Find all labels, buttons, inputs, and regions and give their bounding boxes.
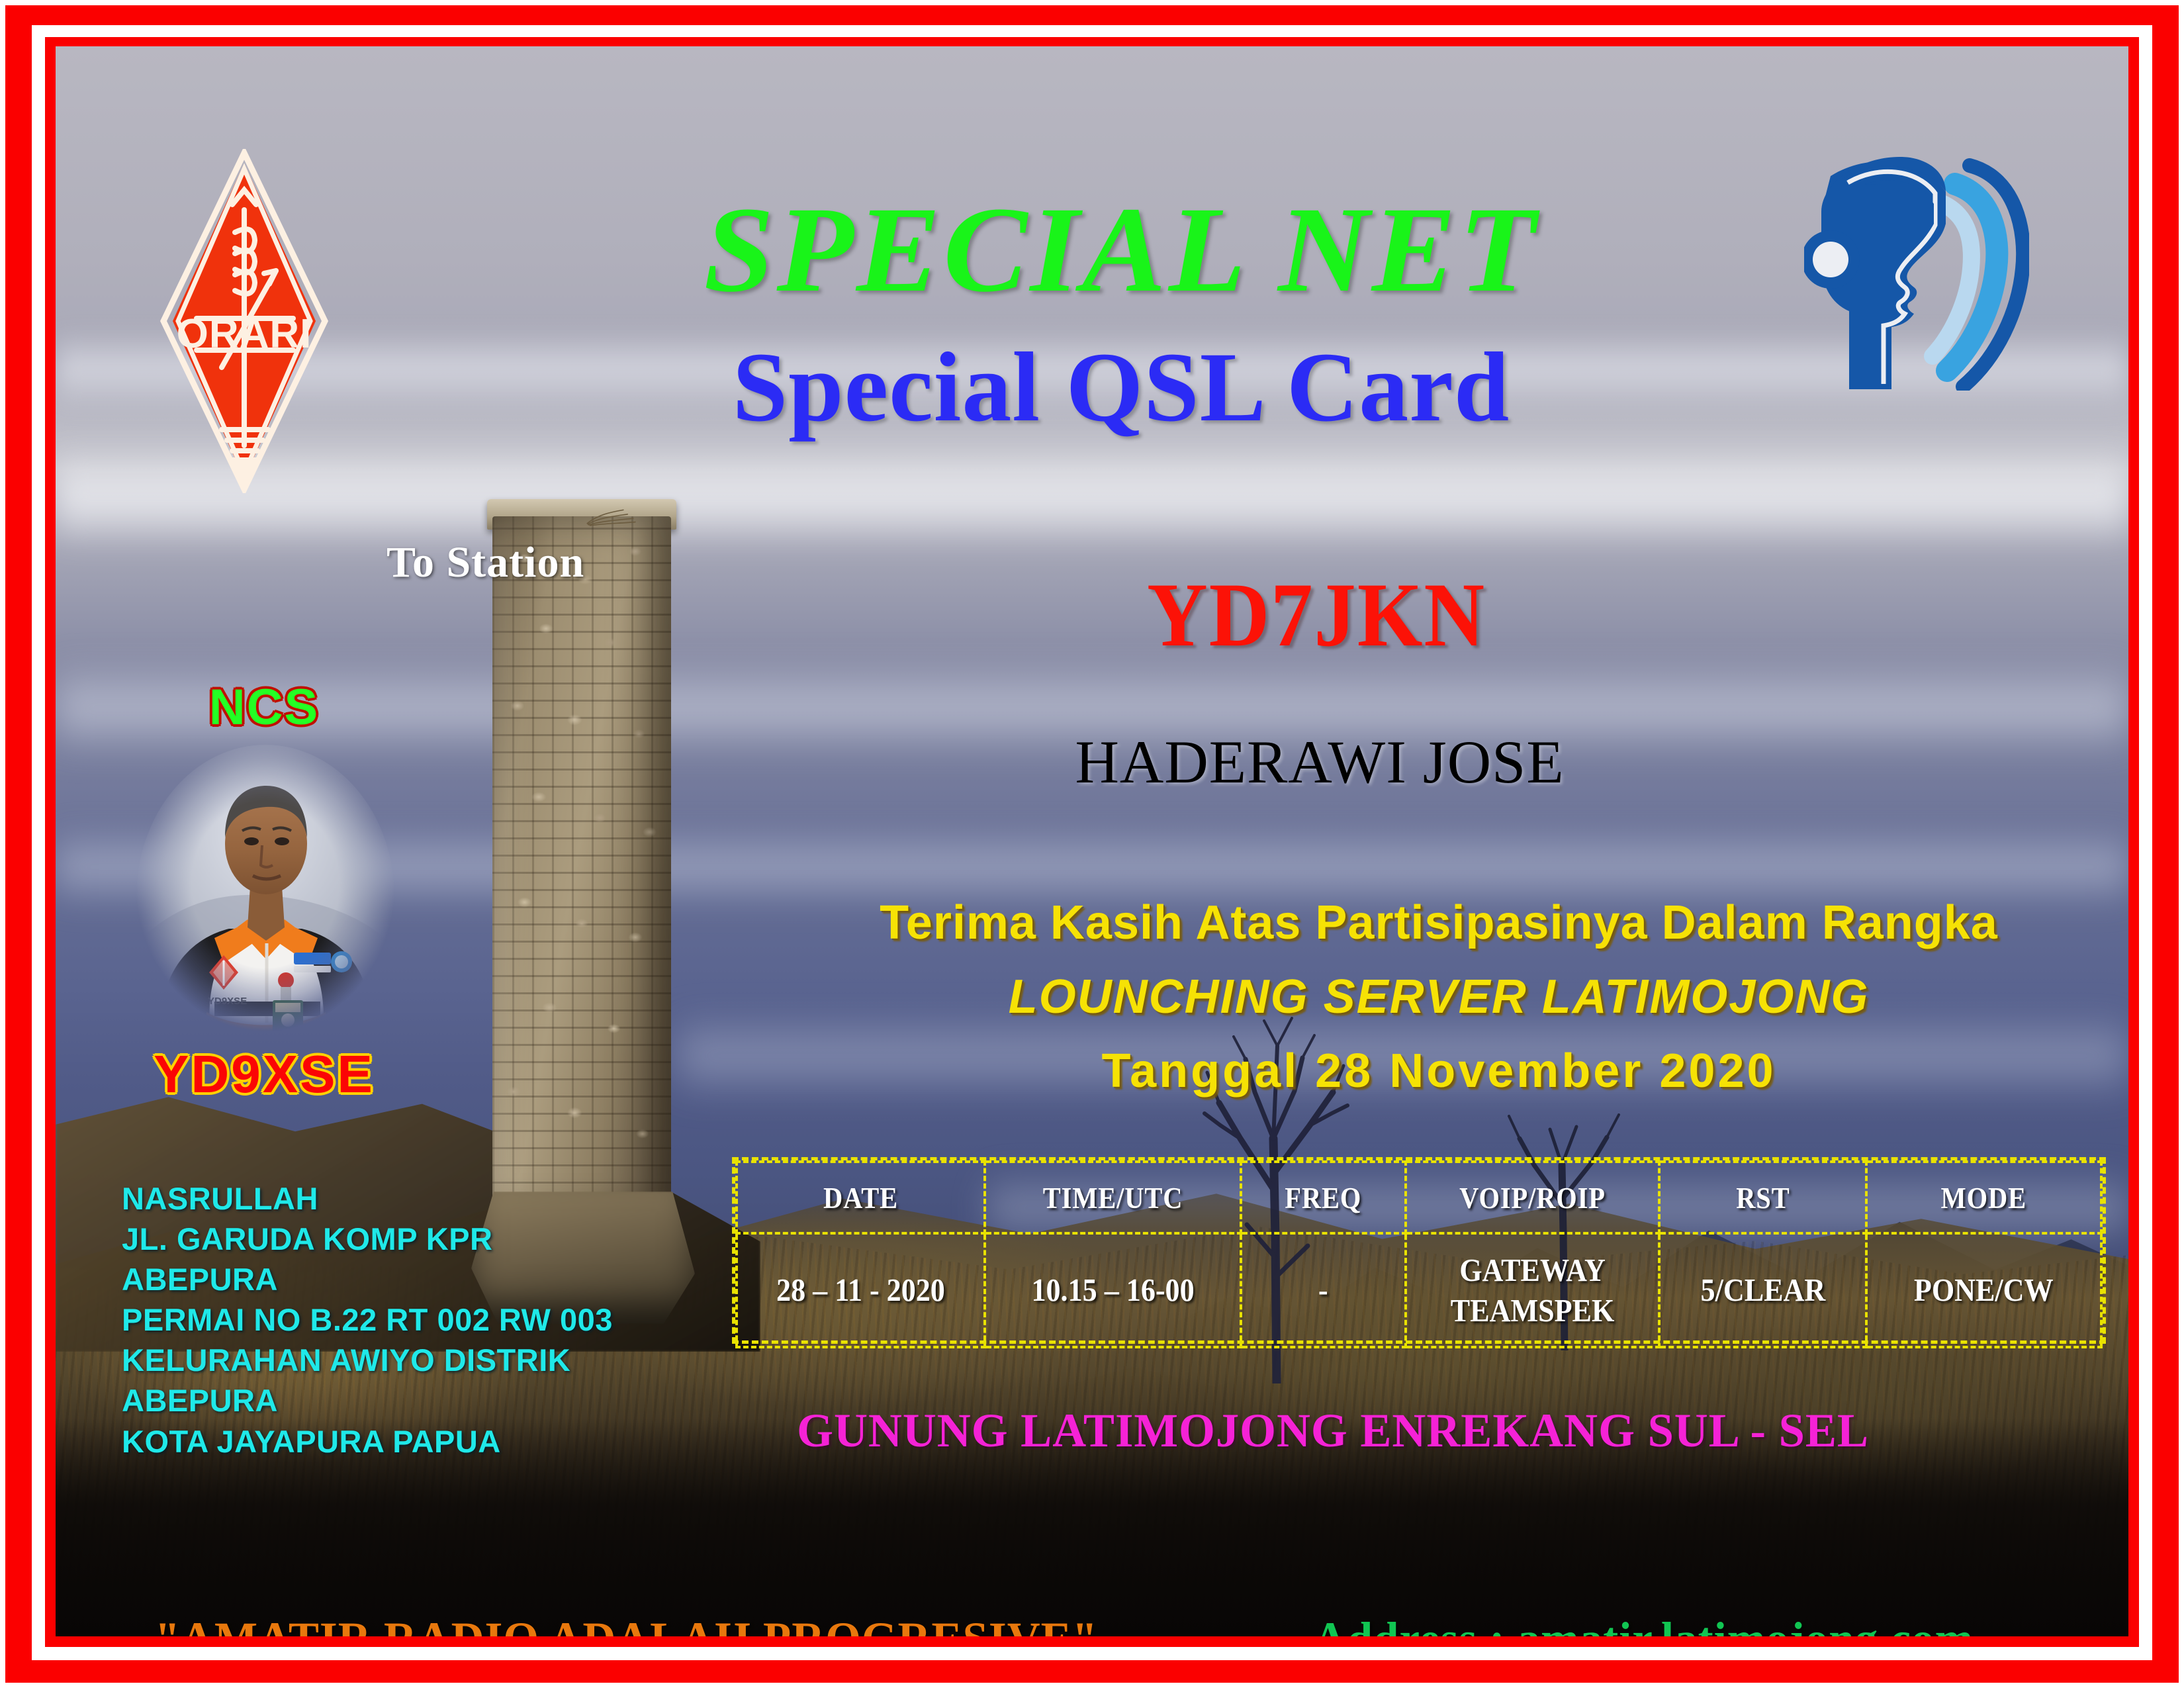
table-header-time: TIME/UTC — [1000, 1162, 1226, 1233]
table-header-rst: RST — [1671, 1162, 1854, 1233]
operator-name: HADERAWI JOSE — [850, 731, 1790, 792]
ncs-portrait-photo: YD9XSE — [136, 745, 394, 1036]
table-header-date: DATE — [751, 1162, 970, 1233]
qsl-card: ORARI NCS — [0, 0, 2184, 1688]
event-title-line: LOUNCHING SERVER LATIMOJONG — [810, 973, 2068, 1021]
shirt-callsign-text: YD9XSE — [208, 996, 247, 1007]
headphone-profile-waves-logo — [1804, 146, 2029, 391]
thanks-line: Terima Kasih Atas Partisipasinya Dalam R… — [810, 899, 2068, 947]
cell-voip: GATEWAY TEAMSPEK — [1418, 1233, 1647, 1347]
footer-motto: "AMATIR RADIO ADALAH PROGRESIVE" — [155, 1612, 1098, 1636]
table-header-voip: VOIP/ROIP — [1421, 1162, 1644, 1233]
ncs-operator-block: NCS — [122, 679, 406, 1142]
address-line: KELURAHAN AWIYO DISTRIK — [122, 1340, 613, 1380]
address-line: KOTA JAYAPURA PAPUA — [122, 1421, 613, 1462]
cell-mode: PONE/CW — [1878, 1233, 2089, 1347]
footer-website: Address : amatir.latimojong.com — [1314, 1612, 1974, 1636]
event-date-line: Tanggal 28 November 2020 — [810, 1047, 2068, 1095]
recipient-callsign: YD7JKN — [997, 569, 1636, 661]
sender-address: NASRULLAH JL. GARUDA KOMP KPR ABEPURA PE… — [122, 1178, 613, 1462]
page-title: SPECIAL NET — [474, 189, 1769, 311]
orari-logo-text: ORARI — [177, 311, 312, 357]
address-line: NASRULLAH — [122, 1178, 613, 1219]
qso-details-table: DATE TIME/UTC FREQ VOIP/ROIP RST MODE 28… — [732, 1157, 2106, 1344]
cell-voip-line2: TEAMSPEK — [1450, 1292, 1614, 1329]
ncs-label: NCS — [122, 679, 406, 736]
ncs-callsign: YD9XSE — [122, 1044, 406, 1105]
page-subtitle: Special QSL Card — [492, 338, 1750, 437]
cell-voip-line1: GATEWAY — [1459, 1252, 1606, 1288]
table-header-freq: FREQ — [1251, 1162, 1396, 1233]
cell-rst: 5/CLEAR — [1669, 1233, 1856, 1347]
cell-date: 28 – 11 - 2020 — [749, 1233, 972, 1347]
address-line: ABEPURA — [122, 1380, 613, 1421]
table-header-mode: MODE — [1881, 1162, 2087, 1233]
address-line: JL. GARUDA KOMP KPR — [122, 1219, 613, 1259]
event-location: GUNUNG LATIMOJONG ENREKANG SUL - SEL — [717, 1403, 1949, 1458]
background-photo: ORARI NCS — [56, 46, 2128, 1636]
address-line: PERMAI NO B.22 RT 002 RW 003 — [122, 1299, 613, 1340]
orari-logo: ORARI — [158, 149, 330, 493]
address-line: ABEPURA — [122, 1259, 613, 1299]
to-station-label: To Station — [387, 538, 584, 588]
table-header-row: DATE TIME/UTC FREQ VOIP/ROIP RST MODE — [737, 1162, 2101, 1233]
cell-time: 10.15 – 16-00 — [997, 1233, 1228, 1347]
pillar-stone-body — [492, 516, 671, 1218]
cell-freq: - — [1249, 1233, 1397, 1347]
pillar-top-vegetation — [585, 496, 737, 536]
table-row: 28 – 11 - 2020 10.15 – 16-00 - GATEWAY T… — [737, 1233, 2101, 1347]
